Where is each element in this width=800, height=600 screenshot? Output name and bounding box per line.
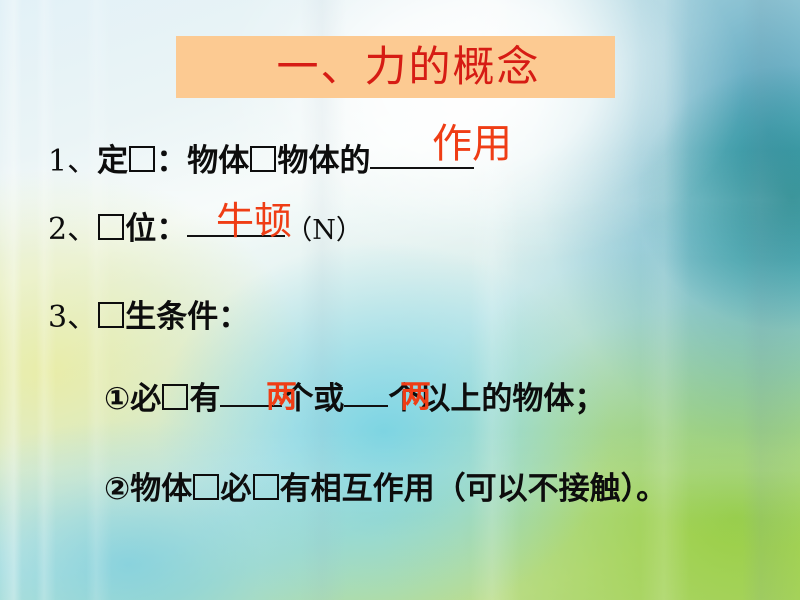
body-line-unit: 2、位：（N） [48, 214, 363, 245]
answer-annotation-count-2: 两 [400, 382, 431, 413]
title-banner: 一、力的概念 [176, 36, 615, 98]
line3-segment-1: 生条件： [125, 299, 249, 335]
body-line-conditions-heading: 3、生条件： [48, 302, 249, 333]
body-line-condition-2: ②物体必有相互作用（可以不接触）。 [104, 474, 667, 505]
line4-segment-1: 必 [130, 381, 161, 417]
list-number-2: 2、 [48, 212, 97, 247]
line1-segment-3: 物体的 [277, 143, 370, 179]
line5-segment-2: 必 [220, 471, 251, 507]
missing-glyph-box [98, 302, 124, 328]
answer-annotation-definition: 作用 [432, 124, 512, 164]
missing-glyph-box [253, 474, 279, 500]
missing-glyph-box [193, 474, 219, 500]
answer-annotation-unit: 牛顿 [216, 202, 292, 240]
fill-in-blank-count-2 [344, 405, 388, 407]
missing-glyph-box [250, 146, 276, 172]
list-number-1: 1、 [48, 144, 97, 179]
page-title: 一、力的概念 [250, 46, 540, 88]
line5-segment-3: 有相互作用（可以不接触）。 [280, 471, 668, 507]
missing-glyph-box [162, 384, 188, 410]
answer-annotation-count-1: 两 [266, 382, 297, 413]
list-number-3: 3、 [48, 300, 97, 335]
list-marker-circled-2: ② [104, 471, 130, 507]
list-marker-circled-1: ① [104, 381, 130, 417]
body-line-definition: 1、定：物体物体的 [48, 146, 474, 177]
line1-segment-1: 定 [97, 143, 128, 179]
line5-segment-1: 物体 [130, 471, 192, 507]
body-line-condition-1: ①必有个或个以上的物体； [104, 384, 605, 415]
line1-segment-2: ：物体 [156, 143, 249, 179]
slide-canvas: 一、力的概念 1、定：物体物体的 2、位：（N） 3、生条件： ①必有个或个以上… [0, 0, 800, 600]
missing-glyph-box [98, 214, 124, 240]
unit-symbol-newton: （N） [285, 215, 363, 246]
fill-in-blank-definition [370, 167, 474, 169]
missing-glyph-box [129, 146, 155, 172]
line4-segment-2: 有 [189, 381, 220, 417]
line2-segment-1: 位： [125, 211, 187, 247]
